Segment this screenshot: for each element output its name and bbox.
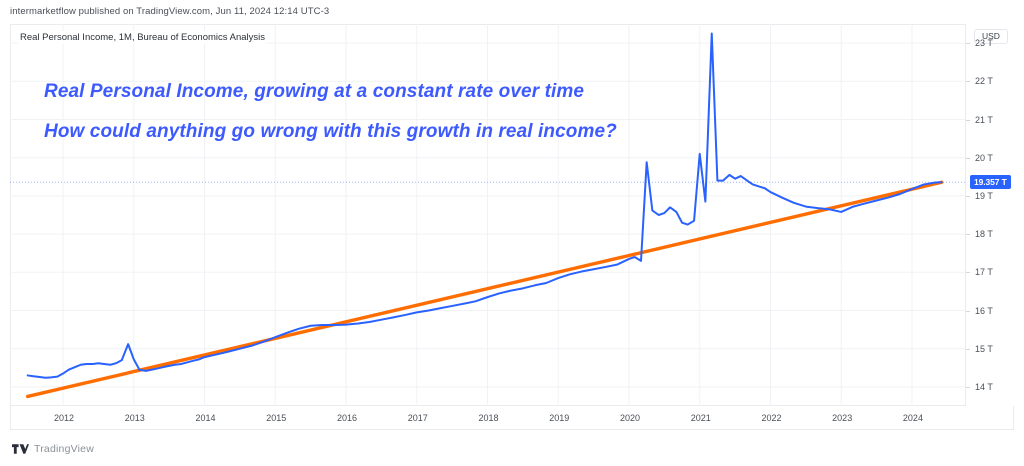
time-tick: 2016 [337, 413, 357, 423]
time-tick: 2024 [903, 413, 923, 423]
tradingview-logo-icon [12, 444, 29, 455]
time-tick: 2018 [478, 413, 498, 423]
price-tick: 14 T [975, 382, 993, 392]
time-tick: 2017 [408, 413, 428, 423]
price-tick: 21 T [975, 115, 993, 125]
time-tick: 2022 [761, 413, 781, 423]
price-scale[interactable]: USD 23 T22 T21 T20 T19 T18 T17 T16 T15 T… [965, 24, 1024, 406]
price-tick: 16 T [975, 306, 993, 316]
price-tick: 19 T [975, 191, 993, 201]
price-tick: 18 T [975, 229, 993, 239]
tradingview-watermark: TradingView [12, 443, 94, 455]
price-tick: 17 T [975, 267, 993, 277]
time-tick: 2019 [549, 413, 569, 423]
price-tick: 15 T [975, 344, 993, 354]
publisher-header: intermarketflow published on TradingView… [10, 6, 329, 17]
chart-screenshot: intermarketflow published on TradingView… [0, 0, 1024, 466]
time-tick: 2014 [196, 413, 216, 423]
time-tick: 2013 [125, 413, 145, 423]
chart-legend[interactable]: Real Personal Income, 1M, Bureau of Econ… [18, 31, 267, 44]
time-tick: 2012 [54, 413, 74, 423]
time-tick: 2023 [832, 413, 852, 423]
time-tick: 2015 [266, 413, 286, 423]
time-tick: 2020 [620, 413, 640, 423]
annotation-line-1[interactable]: Real Personal Income, growing at a const… [44, 81, 584, 103]
price-tick: 20 T [975, 153, 993, 163]
time-scale[interactable]: 2012201320142015201620172018201920202021… [10, 406, 1014, 430]
current-price-badge[interactable]: 19.357 T [970, 175, 1011, 189]
tradingview-wordmark: TradingView [34, 443, 94, 455]
price-tick: 23 T [975, 38, 993, 48]
trendline-layer [28, 182, 942, 396]
price-tick: 22 T [975, 76, 993, 86]
time-tick: 2021 [691, 413, 711, 423]
annotation-line-2[interactable]: How could anything go wrong with this gr… [44, 121, 617, 143]
